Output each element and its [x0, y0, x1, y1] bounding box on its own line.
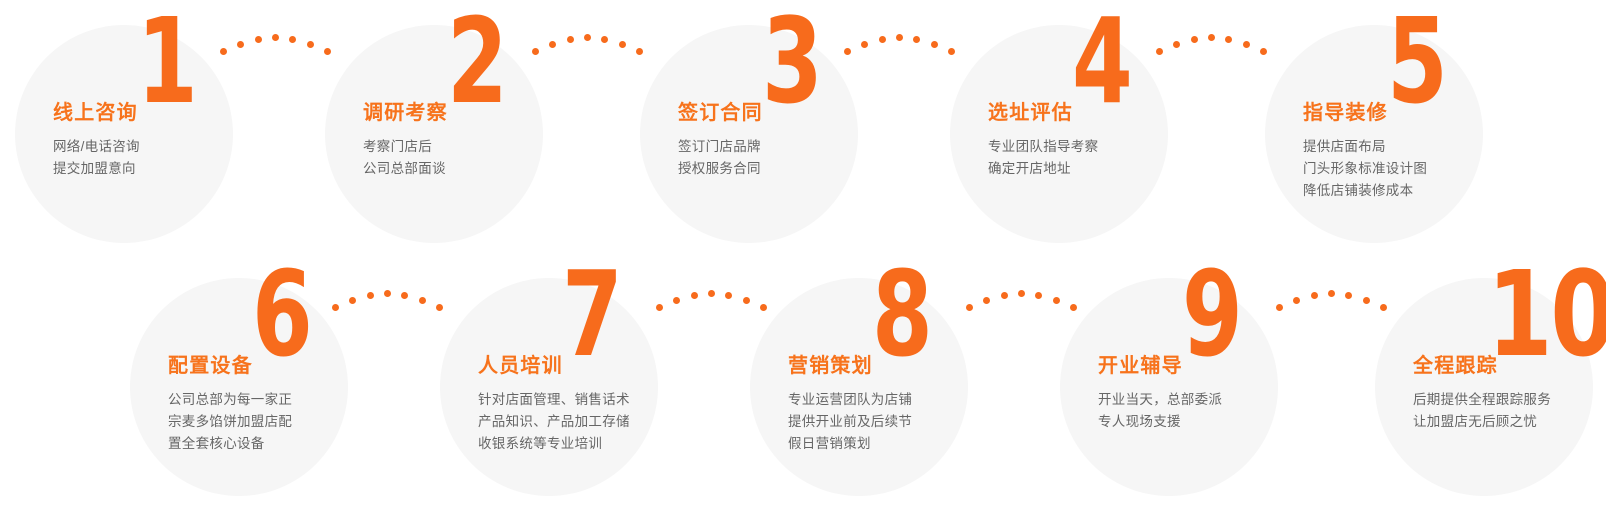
- step-title: 签订合同: [678, 103, 893, 123]
- arc-dot: [1293, 297, 1300, 304]
- step-description: 针对店面管理、销售话术产品知识、产品加工存储收银系统等专业培训: [478, 389, 693, 455]
- arc-dot: [673, 297, 680, 304]
- arc-dot: [743, 297, 750, 304]
- step-body: 营销策划专业运营团队为店铺提供开业前及后续节假日营销策划: [788, 356, 1003, 455]
- arc-dot: [436, 304, 443, 311]
- arc-dot: [1191, 36, 1198, 43]
- step-number: 4: [1072, 11, 1131, 112]
- step-title: 营销策划: [788, 356, 1003, 376]
- arc-dot: [367, 292, 374, 299]
- process-step: 5指导装修提供店面布局门头形象标准设计图降低店铺装修成本: [1265, 25, 1483, 243]
- step-description-line: 网络/电话咨询: [53, 136, 268, 158]
- arc-dot: [237, 41, 244, 48]
- arc-dot: [601, 36, 608, 43]
- arc-dot: [844, 48, 851, 55]
- step-number: 5: [1387, 11, 1446, 112]
- dotted-arc-icon: [652, 278, 772, 318]
- step-title: 开业辅导: [1098, 356, 1313, 376]
- step-description-line: 确定开店地址: [988, 158, 1203, 180]
- dotted-arc-icon: [528, 22, 648, 62]
- step-description: 网络/电话咨询提交加盟意向: [53, 136, 268, 180]
- step-title: 线上咨询: [53, 103, 268, 123]
- step-body: 人员培训针对店面管理、销售话术产品知识、产品加工存储收银系统等专业培训: [478, 356, 693, 455]
- arc-dot: [966, 304, 973, 311]
- arc-dot: [384, 290, 391, 297]
- arc-dot: [1225, 36, 1232, 43]
- arc-dot: [725, 292, 732, 299]
- process-step: 8营销策划专业运营团队为店铺提供开业前及后续节假日营销策划: [750, 278, 968, 496]
- arc-dot: [532, 48, 539, 55]
- step-description-line: 开业当天，总部委派: [1098, 389, 1313, 411]
- arc-dot: [324, 48, 331, 55]
- arc-dot: [1018, 290, 1025, 297]
- step-description-line: 签订门店品牌: [678, 136, 893, 158]
- step-number: 2: [447, 11, 506, 112]
- arc-dot: [913, 36, 920, 43]
- step-body: 全程跟踪后期提供全程跟踪服务让加盟店无后顾之忧: [1413, 356, 1606, 433]
- step-description: 后期提供全程跟踪服务让加盟店无后顾之忧: [1413, 389, 1606, 433]
- step-description: 专业团队指导考察确定开店地址: [988, 136, 1203, 180]
- arc-dot: [549, 41, 556, 48]
- process-step: 1线上咨询网络/电话咨询提交加盟意向: [15, 25, 233, 243]
- step-description: 签订门店品牌授权服务合同: [678, 136, 893, 180]
- process-step: 10全程跟踪后期提供全程跟踪服务让加盟店无后顾之忧: [1375, 278, 1593, 496]
- step-number: 3: [762, 11, 821, 112]
- arc-dot: [567, 36, 574, 43]
- dotted-arc-icon: [962, 278, 1082, 318]
- arc-dot: [656, 304, 663, 311]
- arc-dot: [289, 36, 296, 43]
- step-body: 线上咨询网络/电话咨询提交加盟意向: [53, 103, 268, 180]
- step-number: 9: [1182, 264, 1241, 365]
- process-step: 3签订合同签订门店品牌授权服务合同: [640, 25, 858, 243]
- step-description-line: 门头形象标准设计图: [1303, 158, 1518, 180]
- step-description-line: 公司总部为每一家正: [168, 389, 383, 411]
- dotted-arc-icon: [216, 22, 336, 62]
- arc-dot: [401, 292, 408, 299]
- arc-dot: [220, 48, 227, 55]
- arc-dot: [931, 41, 938, 48]
- step-description: 开业当天，总部委派专人现场支援: [1098, 389, 1313, 433]
- arc-dot: [879, 36, 886, 43]
- arc-dot: [349, 297, 356, 304]
- arc-dot: [332, 304, 339, 311]
- step-number: 10: [1487, 264, 1606, 365]
- step-number: 7: [562, 264, 621, 365]
- arc-dot: [708, 290, 715, 297]
- step-body: 开业辅导开业当天，总部委派专人现场支援: [1098, 356, 1313, 433]
- step-number: 6: [252, 264, 311, 365]
- arc-dot: [1070, 304, 1077, 311]
- arc-dot: [1156, 48, 1163, 55]
- step-description-line: 置全套核心设备: [168, 433, 383, 455]
- arc-dot: [1173, 41, 1180, 48]
- step-description-line: 收银系统等专业培训: [478, 433, 693, 455]
- step-description-line: 后期提供全程跟踪服务: [1413, 389, 1606, 411]
- arc-dot: [636, 48, 643, 55]
- step-title: 调研考察: [363, 103, 578, 123]
- step-description-line: 专业运营团队为店铺: [788, 389, 1003, 411]
- step-description-line: 宗麦多馅饼加盟店配: [168, 411, 383, 433]
- arc-dot: [255, 36, 262, 43]
- step-description: 公司总部为每一家正宗麦多馅饼加盟店配置全套核心设备: [168, 389, 383, 455]
- step-number: 1: [137, 11, 196, 112]
- arc-dot: [760, 304, 767, 311]
- step-title: 配置设备: [168, 356, 383, 376]
- step-description-line: 针对店面管理、销售话术: [478, 389, 693, 411]
- arc-dot: [1380, 304, 1387, 311]
- arc-dot: [1328, 290, 1335, 297]
- step-body: 选址评估专业团队指导考察确定开店地址: [988, 103, 1203, 180]
- process-step: 6配置设备公司总部为每一家正宗麦多馅饼加盟店配置全套核心设备: [130, 278, 348, 496]
- arc-dot: [1243, 41, 1250, 48]
- process-step: 9开业辅导开业当天，总部委派专人现场支援: [1060, 278, 1278, 496]
- step-description-line: 降低店铺装修成本: [1303, 180, 1518, 202]
- arc-dot: [948, 48, 955, 55]
- arc-dot: [1053, 297, 1060, 304]
- arc-dot: [983, 297, 990, 304]
- step-description: 专业运营团队为店铺提供开业前及后续节假日营销策划: [788, 389, 1003, 455]
- step-description: 提供店面布局门头形象标准设计图降低店铺装修成本: [1303, 136, 1518, 202]
- step-title: 人员培训: [478, 356, 693, 376]
- step-description-line: 提交加盟意向: [53, 158, 268, 180]
- dotted-arc-icon: [328, 278, 448, 318]
- dotted-arc-icon: [1272, 278, 1392, 318]
- step-body: 指导装修提供店面布局门头形象标准设计图降低店铺装修成本: [1303, 103, 1518, 202]
- arc-dot: [1001, 292, 1008, 299]
- step-description-line: 产品知识、产品加工存储: [478, 411, 693, 433]
- step-description-line: 提供店面布局: [1303, 136, 1518, 158]
- arc-dot: [691, 292, 698, 299]
- step-description-line: 让加盟店无后顾之忧: [1413, 411, 1606, 433]
- step-body: 配置设备公司总部为每一家正宗麦多馅饼加盟店配置全套核心设备: [168, 356, 383, 455]
- arc-dot: [1208, 34, 1215, 41]
- arc-dot: [419, 297, 426, 304]
- dotted-arc-icon: [840, 22, 960, 62]
- process-step: 2调研考察考察门店后公司总部面谈: [325, 25, 543, 243]
- step-description-line: 公司总部面谈: [363, 158, 578, 180]
- process-step: 4选址评估专业团队指导考察确定开店地址: [950, 25, 1168, 243]
- arc-dot: [1363, 297, 1370, 304]
- step-description-line: 考察门店后: [363, 136, 578, 158]
- step-description-line: 授权服务合同: [678, 158, 893, 180]
- step-body: 签订合同签订门店品牌授权服务合同: [678, 103, 893, 180]
- step-description: 考察门店后公司总部面谈: [363, 136, 578, 180]
- step-title: 选址评估: [988, 103, 1203, 123]
- step-body: 调研考察考察门店后公司总部面谈: [363, 103, 578, 180]
- arc-dot: [1260, 48, 1267, 55]
- arc-dot: [1035, 292, 1042, 299]
- process-step: 7人员培训针对店面管理、销售话术产品知识、产品加工存储收银系统等专业培训: [440, 278, 658, 496]
- arc-dot: [272, 34, 279, 41]
- arc-dot: [861, 41, 868, 48]
- arc-dot: [1345, 292, 1352, 299]
- arc-dot: [1276, 304, 1283, 311]
- arc-dot: [896, 34, 903, 41]
- step-description-line: 提供开业前及后续节: [788, 411, 1003, 433]
- arc-dot: [619, 41, 626, 48]
- step-title: 指导装修: [1303, 103, 1518, 123]
- step-number: 8: [872, 264, 931, 365]
- step-description-line: 专业团队指导考察: [988, 136, 1203, 158]
- arc-dot: [307, 41, 314, 48]
- step-title: 全程跟踪: [1413, 356, 1606, 376]
- arc-dot: [584, 34, 591, 41]
- arc-dot: [1311, 292, 1318, 299]
- process-infographic: 1线上咨询网络/电话咨询提交加盟意向2调研考察考察门店后公司总部面谈3签订合同签…: [0, 0, 1606, 508]
- step-description-line: 假日营销策划: [788, 433, 1003, 455]
- step-description-line: 专人现场支援: [1098, 411, 1313, 433]
- dotted-arc-icon: [1152, 22, 1272, 62]
